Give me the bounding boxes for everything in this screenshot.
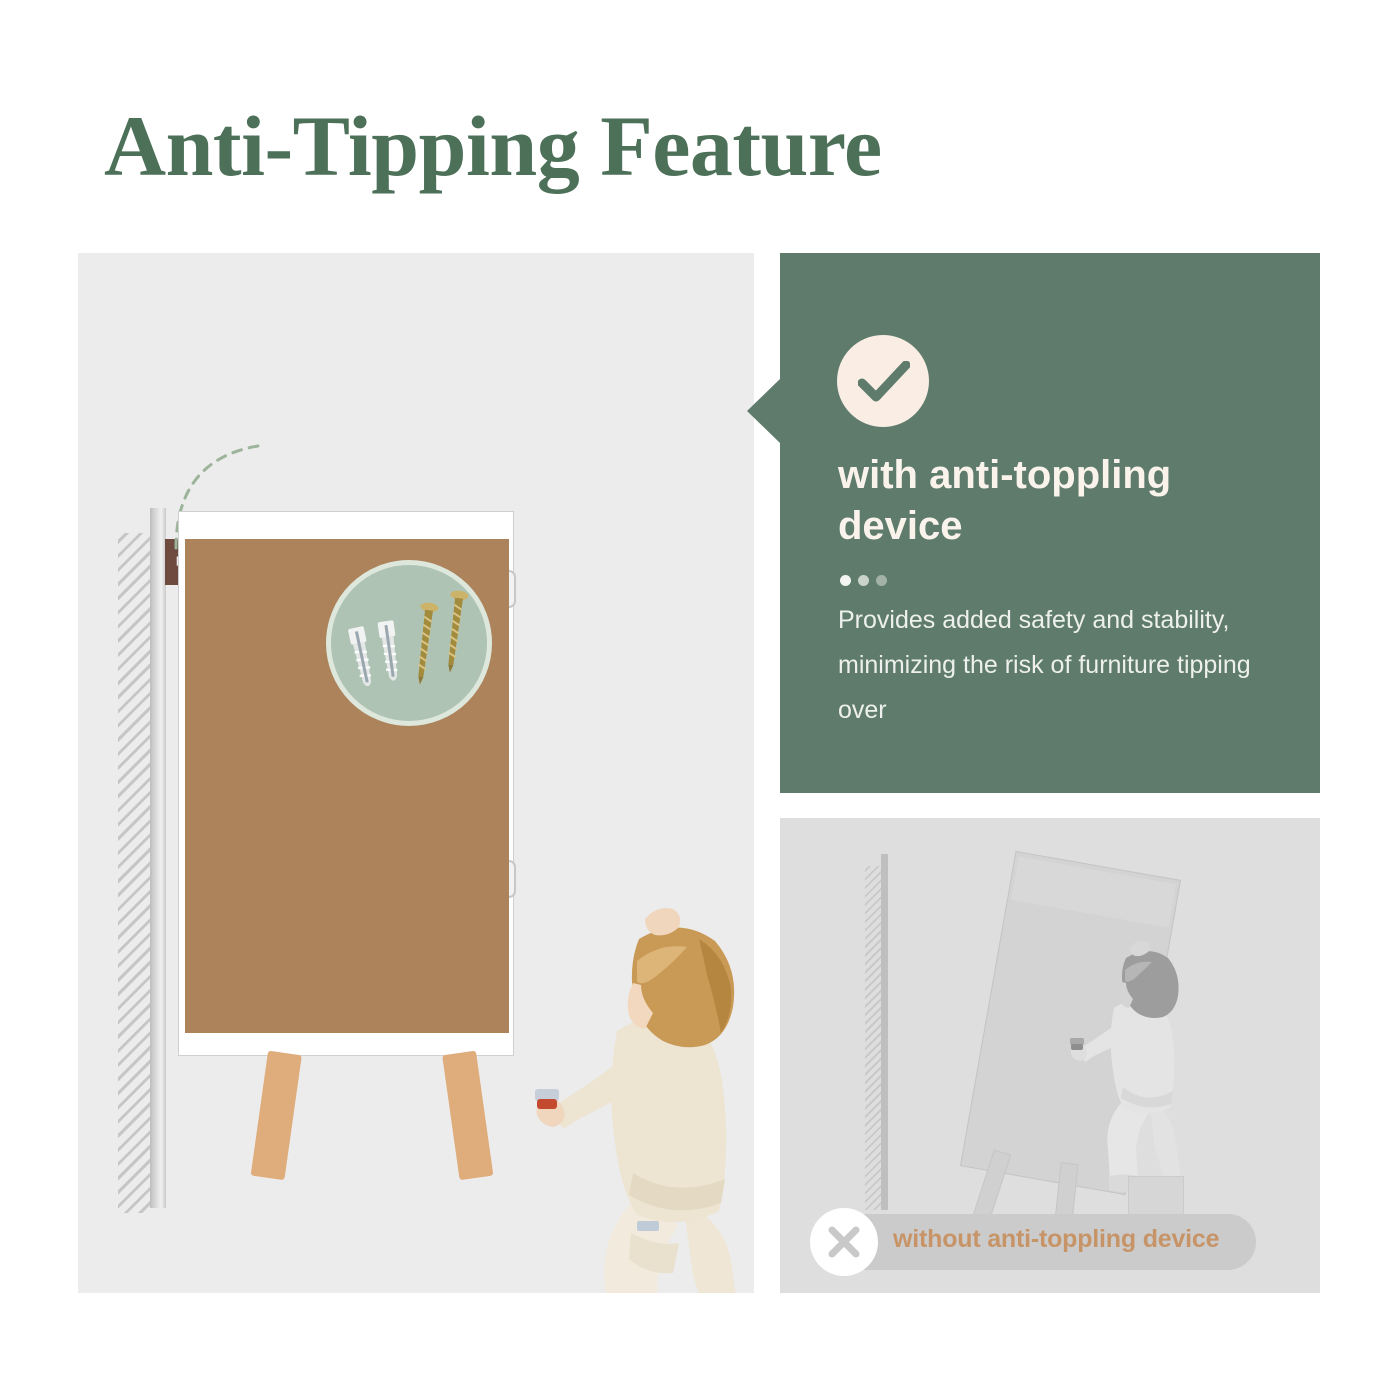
dots-decoration (840, 575, 887, 586)
hardware-icons (331, 565, 487, 721)
hatched-wall-icon (118, 533, 152, 1213)
dot-1 (840, 575, 851, 586)
hardware-detail-circle-icon (326, 560, 492, 726)
callout-body-text: Provides added safety and stability, min… (838, 598, 1270, 733)
toddler-icon (533, 903, 754, 1293)
infographic-root: Anti-Tipping Feature (0, 0, 1400, 1400)
tipping-cabinet-top (1011, 856, 1176, 927)
warning-illustration-panel: without anti-toppling device (780, 818, 1320, 1293)
x-circle-icon (810, 1208, 878, 1276)
wall-anchor-2 (377, 620, 401, 682)
hatched-wall-icon-small (865, 866, 881, 1210)
cabinet-leg-right (442, 1051, 493, 1181)
check-circle-icon (837, 335, 929, 427)
cabinet-leg-left (251, 1051, 302, 1181)
callout-heading: with anti-toppling device (838, 450, 1258, 552)
screw-2 (441, 590, 469, 674)
feature-callout-panel: with anti-toppling device Provides added… (780, 253, 1320, 793)
warning-badge-label: without anti-toppling device (893, 1225, 1219, 1254)
wall-surface-small (881, 854, 888, 1210)
dot-2 (858, 575, 869, 586)
cabinet-handle-bottom (509, 860, 516, 898)
wall-anchor-1 (348, 626, 376, 688)
dot-3 (876, 575, 887, 586)
page-title: Anti-Tipping Feature (104, 98, 1304, 194)
cabinet-handle-top (509, 570, 516, 608)
callout-tail-icon (747, 378, 781, 444)
screw-1 (411, 602, 439, 686)
wall-surface (150, 508, 166, 1208)
main-illustration-panel (78, 253, 754, 1293)
